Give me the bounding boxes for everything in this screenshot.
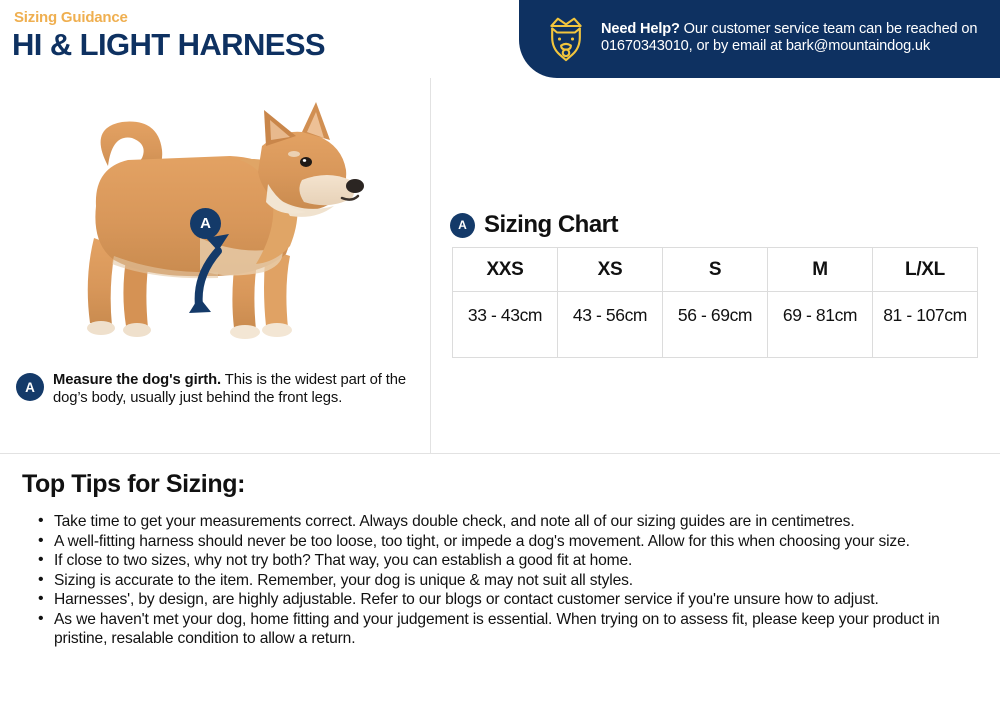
horizontal-divider: [0, 453, 1000, 454]
table-cell: 33 - 43cm: [453, 292, 558, 358]
list-item: If close to two sizes, why not try both?…: [38, 552, 983, 571]
sizing-guidance-page: Sizing Guidance HI & LIGHT HARNESS Need …: [0, 0, 1000, 720]
diagram-marker-a: A: [190, 208, 221, 239]
table-cell: 56 - 69cm: [663, 292, 768, 358]
table-header-cell: M: [768, 248, 873, 292]
list-item: Take time to get your measurements corre…: [38, 513, 983, 532]
sizing-chart-table: XXS XS S M L/XL 33 - 43cm 43 - 56cm 56 -…: [452, 247, 978, 358]
tips-list: Take time to get your measurements corre…: [38, 513, 983, 649]
table-cell: 69 - 81cm: [768, 292, 873, 358]
page-title: HI & LIGHT HARNESS: [12, 27, 325, 63]
measure-marker-a: A: [16, 373, 44, 401]
eyebrow-label: Sizing Guidance: [14, 9, 128, 26]
list-item: Sizing is accurate to the item. Remember…: [38, 572, 983, 591]
measure-note-text: Measure the dog's girth. This is the wid…: [44, 372, 421, 407]
measure-note-lead: Measure the dog's girth.: [53, 372, 221, 388]
table-header-cell: S: [663, 248, 768, 292]
sizing-chart-header: A Sizing Chart: [450, 211, 618, 239]
table-cell: 81 - 107cm: [873, 292, 978, 358]
table-row: 33 - 43cm 43 - 56cm 56 - 69cm 69 - 81cm …: [453, 292, 978, 358]
table-header-cell: XXS: [453, 248, 558, 292]
table-cell: 43 - 56cm: [558, 292, 663, 358]
measure-note: A Measure the dog's girth. This is the w…: [16, 372, 421, 407]
list-item: Harnesses', by design, are highly adjust…: [38, 591, 983, 610]
table-header-cell: L/XL: [873, 248, 978, 292]
need-help-lead: Need Help?: [601, 21, 680, 37]
mountaindog-logo-icon: [537, 10, 595, 68]
vertical-divider: [430, 78, 431, 453]
need-help-banner: Need Help? Our customer service team can…: [519, 0, 1000, 78]
dog-diagram: A: [0, 88, 430, 363]
sizing-chart-title: Sizing Chart: [475, 211, 618, 239]
list-item: A well-fitting harness should never be t…: [38, 533, 983, 552]
table-header-row: XXS XS S M L/XL: [453, 248, 978, 292]
list-item: As we haven't met your dog, home fitting…: [38, 611, 983, 648]
sizing-chart-marker-a: A: [450, 213, 475, 238]
table-header-cell: XS: [558, 248, 663, 292]
need-help-text: Need Help? Our customer service team can…: [595, 21, 1000, 58]
tips-title: Top Tips for Sizing:: [22, 470, 245, 499]
